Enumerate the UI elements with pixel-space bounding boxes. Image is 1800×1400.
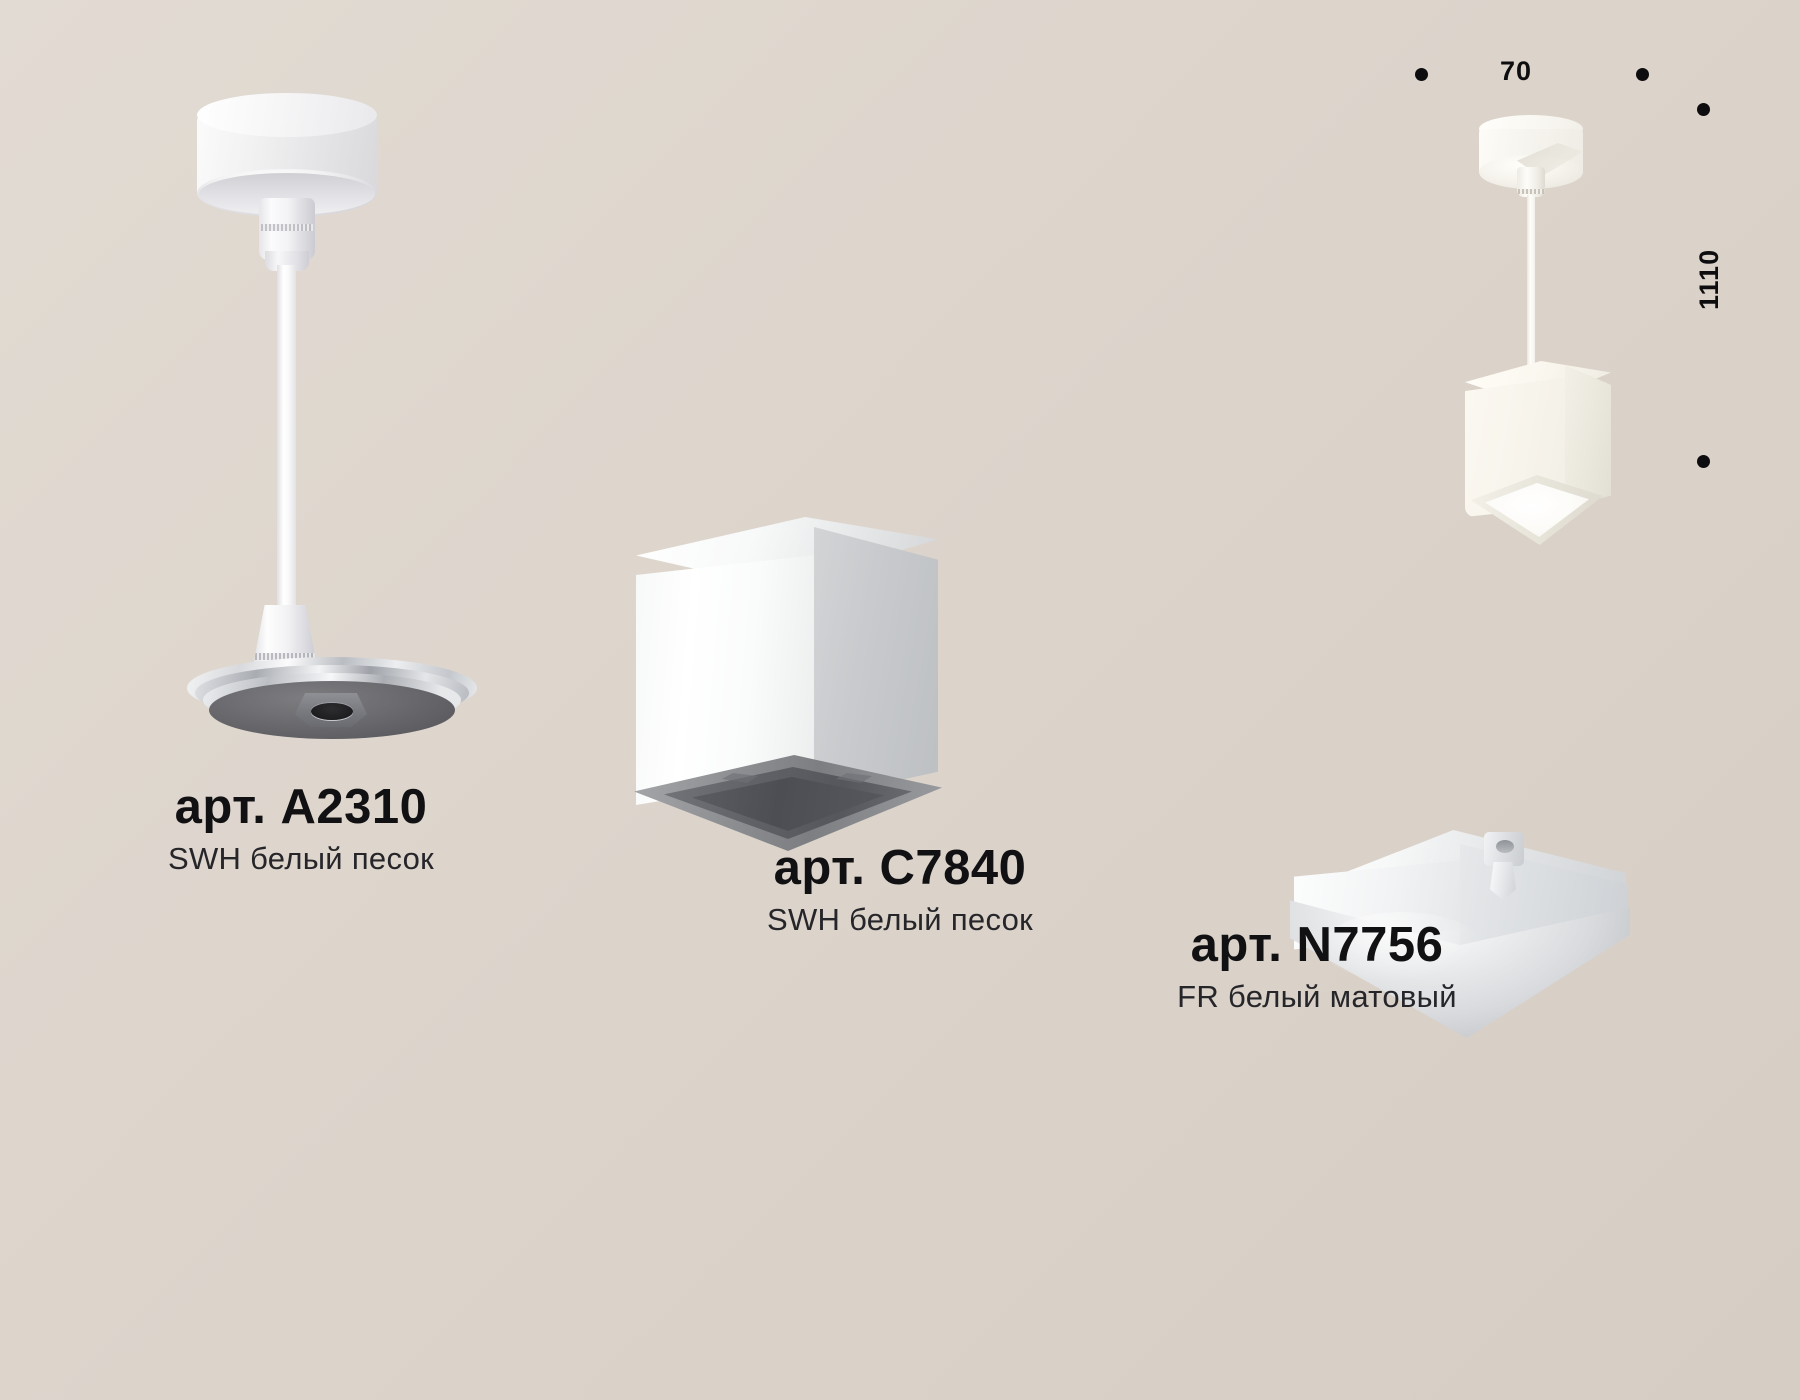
dimension-dot-width-right: [1636, 68, 1649, 81]
preview-socket-connector: [1517, 167, 1545, 197]
cube-side-face: [814, 527, 938, 799]
finish-name-n7756: FR белый матовый: [1037, 980, 1597, 1014]
product-image-a2310: [185, 105, 485, 665]
disc-head-assembly: [183, 657, 483, 767]
suspension-rod: [277, 265, 296, 633]
dimension-value-width: 70: [1500, 56, 1532, 87]
mounting-clip-hole: [1496, 840, 1514, 853]
dimension-dot-height-top: [1697, 103, 1710, 116]
dimension-dot-height-bottom: [1697, 455, 1710, 468]
assembled-pendant-preview: [1465, 115, 1645, 545]
article-code-n7756: арт. N7756: [1037, 920, 1597, 972]
finish-name-a2310: SWH белый песок: [41, 842, 561, 876]
canopy-top-ellipse: [197, 93, 377, 137]
product-label-n7756: арт. N7756 FR белый матовый: [1037, 920, 1597, 1014]
dimension-value-height: 1110: [1694, 249, 1725, 310]
preview-suspension-wire: [1527, 195, 1535, 391]
article-code-a2310: арт. A2310: [41, 782, 561, 834]
disc-center-socket-hole: [311, 703, 353, 720]
dimension-dot-width-left: [1415, 68, 1428, 81]
preview-cube-side-face: [1565, 365, 1611, 507]
product-diagram-canvas: арт. A2310 SWH белый песок арт. C7840 SW…: [0, 0, 1800, 1400]
product-image-c7840: [630, 505, 950, 845]
product-label-a2310: арт. A2310 SWH белый песок: [41, 782, 561, 876]
article-code-c7840: арт. C7840: [620, 843, 1180, 895]
